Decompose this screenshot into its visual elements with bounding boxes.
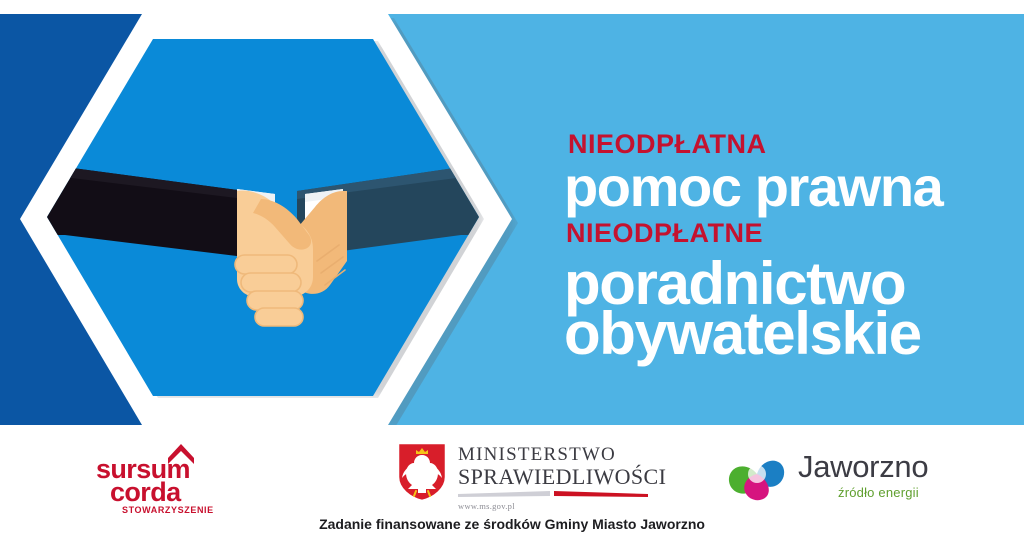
ms-line-2: SPRAWIEDLIWOŚCI [458,465,666,488]
ms-rule-divider [458,489,648,498]
kicker-nieodplatne: NIEODPŁATNE [566,220,763,247]
polish-eagle-coat-of-arms-icon [396,441,448,503]
headline-block: NIEODPŁATNA pomoc prawna NIEODPŁATNE por… [566,28,986,425]
logo-ministerstwo-sprawiedliwosci: MINISTERSTWO SPRAWIEDLIWOŚCI www.ms.gov.… [396,439,646,519]
ms-line-1: MINISTERSTWO [458,445,666,465]
jaworzno-wordmark: Jaworzno [798,449,928,485]
ms-website-url: www.ms.gov.pl [458,501,515,511]
headline-pomoc-prawna: pomoc prawna [564,161,942,213]
jaworzno-tagline: źródło energii [838,485,919,500]
ms-wordmark: MINISTERSTWO SPRAWIEDLIWOŚCI [458,445,666,488]
sursum-subtitle: STOWARZYSZENIE [122,506,214,514]
logo-sursum-corda: sursum corda STOWARZYSZENIE [92,444,222,516]
sursum-word-2: corda [110,480,181,505]
funding-caption: Zadanie finansowane ze środków Gminy Mia… [0,516,1024,532]
kicker-nieodplatna: NIEODPŁATNA [568,131,767,158]
poster-root: NIEODPŁATNA pomoc prawna NIEODPŁATNE por… [0,0,1024,541]
banner-band: NIEODPŁATNA pomoc prawna NIEODPŁATNE por… [0,14,1024,425]
pinwheel-icon [726,445,788,503]
headline-obywatelskie: obywatelskie [564,306,921,361]
logo-jaworzno: Jaworzno źródło energii [726,443,951,513]
